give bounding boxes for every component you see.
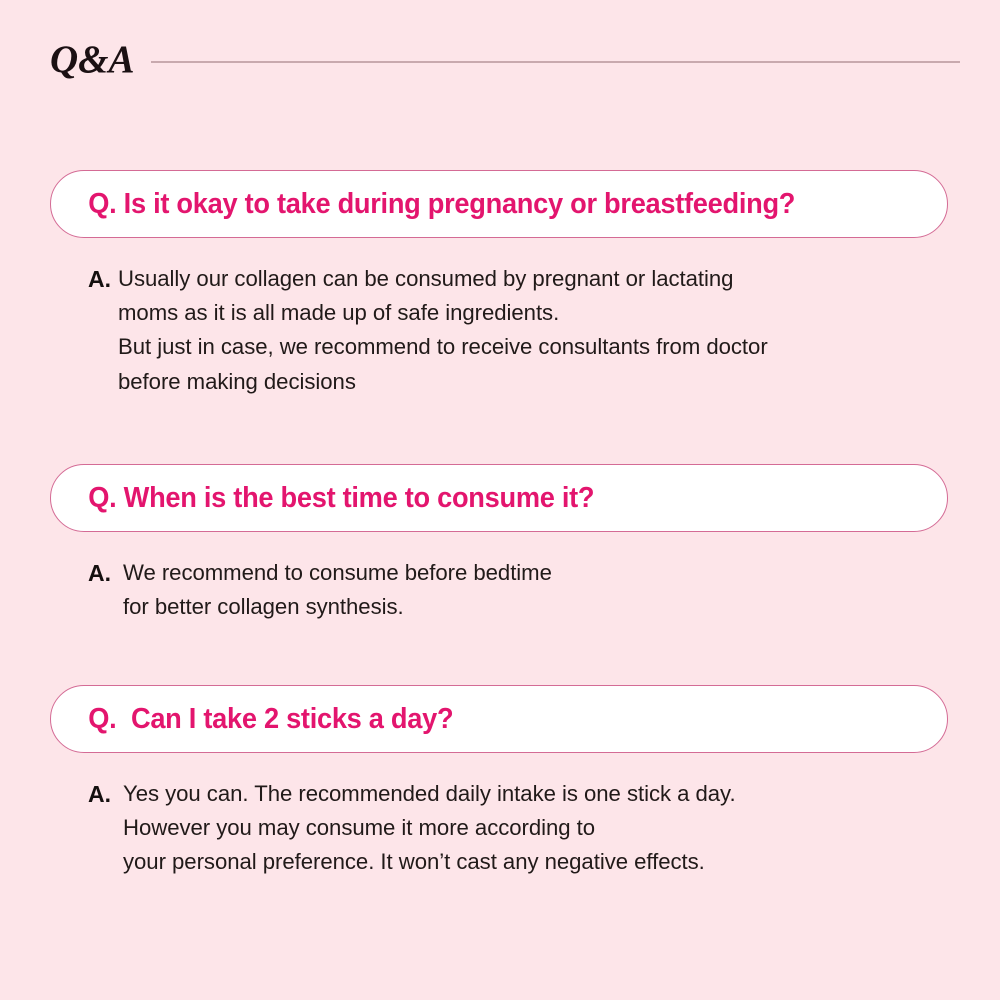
answer-label: A. — [88, 262, 118, 296]
question-text: Q. Is it okay to take during pregnancy o… — [51, 190, 795, 219]
qa-item: Q. Can I take 2 sticks a day? A. Yes you… — [0, 515, 1000, 895]
qa-item: Q. When is the best time to consume it? … — [0, 294, 1000, 534]
question-text: Q. When is the best time to consume it? — [51, 484, 594, 513]
question-pill[interactable]: Q. Can I take 2 sticks a day? — [50, 685, 948, 753]
qa-page: Q&A Q. Is it okay to take during pregnan… — [0, 0, 1000, 1000]
answer-label: A. — [88, 777, 123, 811]
answer-text: Yes you can. The recommended daily intak… — [123, 777, 955, 880]
question-pill[interactable]: Q. Is it okay to take during pregnancy o… — [50, 170, 948, 238]
question-text: Q. Can I take 2 sticks a day? — [51, 705, 453, 734]
answer-block: A. Yes you can. The recommended daily in… — [88, 777, 968, 880]
